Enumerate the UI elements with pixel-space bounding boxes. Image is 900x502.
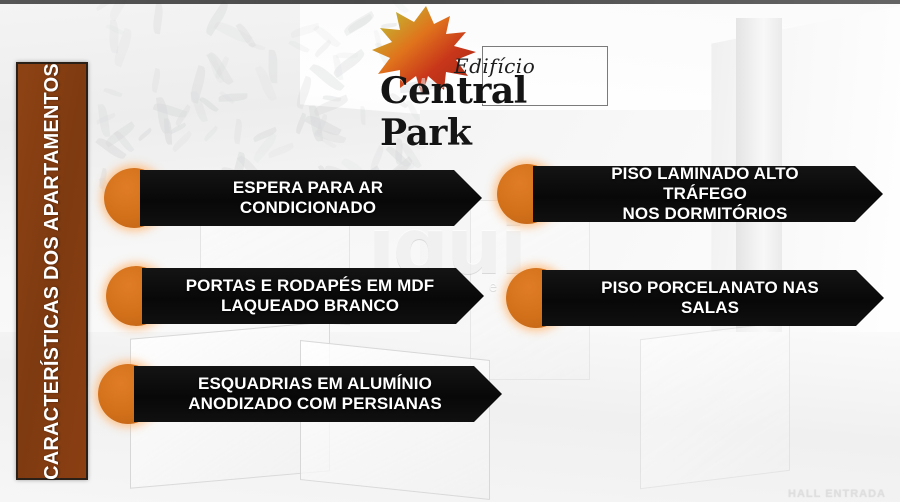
slide-canvas: iqui m ó v e i s Edifício Central Park C… (0, 0, 900, 502)
foliage-leaf (137, 127, 153, 141)
footer-caption: HALL ENTRADA (788, 488, 886, 500)
feature-banner-label: ESPERA PARA AR CONDICIONADO (140, 178, 482, 218)
foliage-leaf (360, 107, 365, 126)
foliage-leaf (233, 119, 243, 145)
foliage-leaf (248, 42, 265, 52)
sidebar-title-bar: CARACTERÍSTICAS DOS APARTAMENTOS (16, 62, 88, 480)
foliage-leaf (294, 76, 314, 110)
foliage-leaf (269, 49, 278, 82)
foliage-leaf (203, 125, 220, 141)
feature-banner-label: PORTAS E RODAPÉS EM MDF LAQUEADO BRANCO (142, 276, 484, 316)
foliage-leaf (295, 112, 308, 134)
banner-arrow: ESQUADRIAS EM ALUMÍNIO ANODIZADO COM PER… (134, 366, 502, 422)
feature-banner-label: PISO PORCELANATO NAS SALAS (542, 278, 884, 318)
feature-banner-label: PISO LAMINADO ALTO TRÁFEGO NOS DORMITÓRI… (533, 164, 883, 224)
banner-arrow: PORTAS E RODAPÉS EM MDF LAQUEADO BRANCO (142, 268, 484, 324)
foliage-leaf (150, 68, 161, 93)
foliage-leaf (156, 97, 170, 135)
banner-arrow: PISO PORCELANATO NAS SALAS (542, 270, 884, 326)
foliage-leaf (103, 87, 122, 99)
foliage-leaf (288, 38, 310, 54)
foliage-leaf (190, 90, 208, 124)
brand-logo: Edifício Central Park (372, 2, 612, 114)
foliage-leaf (151, 3, 164, 35)
feature-banner-label: ESQUADRIAS EM ALUMÍNIO ANODIZADO COM PER… (134, 374, 502, 414)
banner-arrow: PISO LAMINADO ALTO TRÁFEGO NOS DORMITÓRI… (533, 166, 883, 222)
foliage-leaf (109, 20, 119, 54)
banner-arrow: ESPERA PARA AR CONDICIONADO (140, 170, 482, 226)
sidebar-title-label: CARACTERÍSTICAS DOS APARTAMENTOS (41, 63, 64, 480)
background-furniture-block (640, 321, 790, 489)
logo-title: Central Park (380, 70, 612, 154)
foliage-leaf (171, 131, 194, 153)
